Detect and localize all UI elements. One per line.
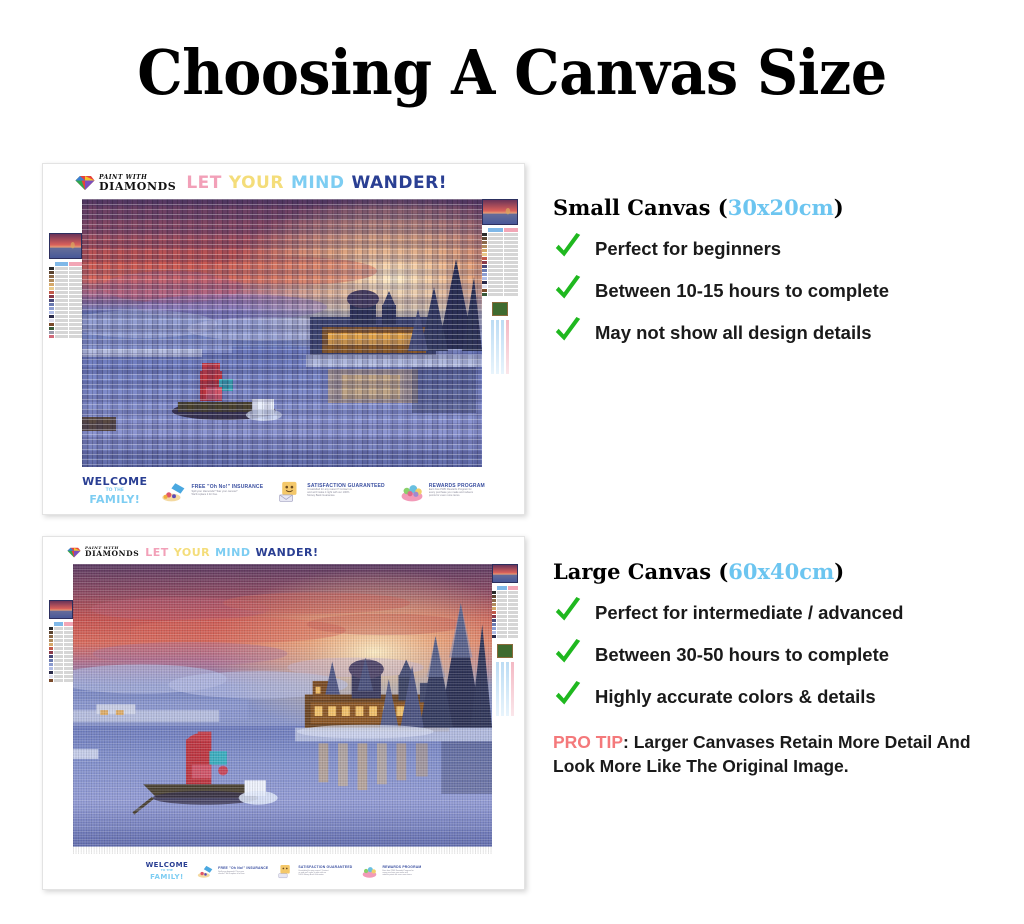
diamond-icon xyxy=(75,175,95,191)
small-canvas-preview-card: PAINT WITH DIAMONDS LET YOUR MIND WANDER… xyxy=(42,163,525,515)
list-item: May not show all design details xyxy=(553,317,1015,345)
legend-row xyxy=(49,679,73,682)
checkmark-icon xyxy=(553,597,583,625)
canvas-artwork-row xyxy=(49,564,518,854)
brand-logo: PAINT WITH DIAMONDS xyxy=(67,546,139,558)
legend-header-dmc xyxy=(497,586,507,590)
legend-row xyxy=(482,277,518,280)
legend-row xyxy=(482,253,518,256)
legend-header-qty xyxy=(64,622,73,626)
large-canvas-heading: Large Canvas (60x40cm) xyxy=(553,560,1015,583)
instruction-column xyxy=(491,320,494,374)
legend-row xyxy=(49,675,73,678)
legend-row xyxy=(482,241,518,244)
gift-basket-icon xyxy=(361,863,378,879)
legend-row xyxy=(492,595,518,598)
diamond-bead-grid xyxy=(73,564,492,854)
canvas-artwork-small xyxy=(82,199,482,467)
perk-subtitle: Spill your diamonds? Tear your canvas? W… xyxy=(218,871,250,875)
legend-row xyxy=(482,237,518,240)
tagline-word-3: MIND xyxy=(291,175,345,192)
vertical-instructions xyxy=(492,662,518,716)
legend-row xyxy=(482,281,518,284)
welcome-footer-bar: WELCOME TO THE FAMILY! FREE "Oh No!" INS… xyxy=(49,856,518,886)
bullet-label: Perfect for intermediate / advanced xyxy=(595,597,903,624)
legend-row xyxy=(49,271,82,274)
legend-row xyxy=(49,295,82,298)
left-legend-rail xyxy=(49,564,73,854)
instruction-column xyxy=(506,662,509,716)
dimension-value: 30x20cm xyxy=(728,195,834,220)
thumbnail-image xyxy=(483,200,517,224)
legend-row xyxy=(49,659,73,662)
color-legend-table xyxy=(482,228,518,296)
small-canvas-bullet-list: Perfect for beginners Between 10-15 hour… xyxy=(553,233,1015,345)
pro-tip-label: PRO TIP xyxy=(553,732,623,752)
legend-row xyxy=(49,287,82,290)
legend-row xyxy=(49,639,73,642)
legend-row xyxy=(482,285,518,288)
legend-row xyxy=(492,603,518,606)
checkmark-icon xyxy=(553,681,583,709)
legend-row xyxy=(49,311,82,314)
list-item: Between 10-15 hours to complete xyxy=(553,275,1015,303)
legend-row xyxy=(49,283,82,286)
legend-row xyxy=(49,635,73,638)
welcome-line-1: WELCOME xyxy=(82,476,147,489)
legend-row xyxy=(492,631,518,634)
instruction-column-highlight xyxy=(511,662,514,716)
legend-row xyxy=(49,655,73,658)
gift-basket-icon xyxy=(399,479,425,503)
welcome-message: WELCOME TO THE FAMILY! xyxy=(82,476,147,506)
tagline-word-2: YOUR xyxy=(174,547,210,558)
legend-row xyxy=(49,275,82,278)
legend-row xyxy=(49,667,73,670)
perk-rewards: REWARDS PROGRAM Earn free PWD Rewards Pr… xyxy=(361,863,421,879)
page-title: Choosing A Canvas Size xyxy=(41,38,983,108)
large-canvas-info: Large Canvas (60x40cm) Perfect for inter… xyxy=(553,560,1015,778)
vertical-instructions xyxy=(482,320,518,374)
instruction-column xyxy=(496,320,499,374)
checkmark-icon xyxy=(553,275,583,303)
kit-badge-icon xyxy=(497,644,513,658)
instruction-column xyxy=(501,662,504,716)
brand-logo-bottom: DIAMONDS xyxy=(85,550,139,558)
artwork-thumbnail xyxy=(482,199,518,225)
tagline-word-4: WANDER! xyxy=(256,547,319,558)
heading-prefix: Large Canvas ( xyxy=(553,559,728,584)
artwork-thumbnail xyxy=(492,564,518,583)
list-item: Between 30-50 hours to complete xyxy=(553,639,1015,667)
legend-row xyxy=(492,599,518,602)
perk-satisfaction: SATISFACTION GUARANTEED Unsatisfied for … xyxy=(277,479,385,503)
brand-logo-bottom: DIAMONDS xyxy=(99,181,176,192)
legend-row xyxy=(482,289,518,292)
spilled-paint-icon xyxy=(161,479,187,503)
legend-row xyxy=(492,615,518,618)
color-legend-table xyxy=(492,586,518,638)
pro-tip: PRO TIP: Larger Canvases Retain More Det… xyxy=(553,731,1015,777)
artwork-thumbnail xyxy=(49,233,82,259)
artwork-thumbnail xyxy=(49,600,73,619)
list-item: Perfect for beginners xyxy=(553,233,1015,261)
canvas-header-large: PAINT WITH DIAMONDS LET YOUR MIND WANDER… xyxy=(49,543,518,561)
legend-row xyxy=(482,261,518,264)
diamond-bead-grid xyxy=(82,199,482,467)
tagline-word-3: MIND xyxy=(215,547,250,558)
welcome-line-3: FAMILY! xyxy=(146,873,189,881)
perk-subtitle: Unsatisfied for any reason? Contact us a… xyxy=(298,870,330,876)
perk-rewards: REWARDS PROGRAM Earn free PWD Rewards Pr… xyxy=(399,479,485,503)
canvas-tagline: LET YOUR MIND WANDER! xyxy=(145,547,318,558)
smiley-package-icon xyxy=(277,479,303,503)
tagline-word-2: YOUR xyxy=(229,175,284,192)
checkmark-icon xyxy=(553,317,583,345)
list-item: Highly accurate colors & details xyxy=(553,681,1015,709)
tagline-word-4: WANDER! xyxy=(352,175,447,192)
legend-row xyxy=(49,299,82,302)
thumbnail-image xyxy=(50,234,81,258)
perk-subtitle: Spill your diamonds? Tear your canvas? W… xyxy=(191,491,237,497)
legend-row xyxy=(49,315,82,318)
canvas-tagline: LET YOUR MIND WANDER! xyxy=(186,175,447,192)
diamond-icon xyxy=(67,547,81,558)
brand-logo: PAINT WITH DIAMONDS xyxy=(75,175,176,192)
legend-row xyxy=(482,233,518,236)
left-legend-rail xyxy=(49,199,82,467)
right-legend-rail xyxy=(482,199,518,467)
small-canvas-info: Small Canvas (30x20cm) Perfect for begin… xyxy=(553,196,1015,359)
legend-row xyxy=(49,331,82,334)
legend-row xyxy=(49,323,82,326)
legend-row xyxy=(482,269,518,272)
perk-subtitle: Earn free PWD Rewards Program for every … xyxy=(382,870,414,876)
thumbnail-image xyxy=(493,565,517,582)
heading-suffix: ) xyxy=(834,559,844,584)
legend-row xyxy=(492,607,518,610)
canvas-header-small: PAINT WITH DIAMONDS LET YOUR MIND WANDER… xyxy=(49,170,518,196)
checkmark-icon xyxy=(553,639,583,667)
perk-insurance: FREE "Oh No!" INSURANCE Spill your diamo… xyxy=(197,863,268,879)
bullet-label: Between 10-15 hours to complete xyxy=(595,275,889,302)
legend-header-qty xyxy=(504,228,519,232)
legend-row xyxy=(49,671,73,674)
legend-row xyxy=(49,663,73,666)
legend-row xyxy=(482,245,518,248)
legend-row xyxy=(49,319,82,322)
bullet-label: Perfect for beginners xyxy=(595,233,781,260)
legend-row xyxy=(49,647,73,650)
perk-insurance: FREE "Oh No!" INSURANCE Spill your diamo… xyxy=(161,479,263,503)
legend-header-dmc xyxy=(54,622,63,626)
legend-row xyxy=(492,611,518,614)
bullet-label: Highly accurate colors & details xyxy=(595,681,876,708)
list-item: Perfect for intermediate / advanced xyxy=(553,597,1015,625)
legend-row xyxy=(49,631,73,634)
instruction-column-highlight xyxy=(506,320,509,374)
legend-row xyxy=(492,623,518,626)
canvas-artwork-large xyxy=(73,564,492,854)
tagline-word-1: LET xyxy=(186,175,222,192)
welcome-line-3: FAMILY! xyxy=(82,494,147,507)
right-legend-rail xyxy=(492,564,518,854)
bullet-label: Between 30-50 hours to complete xyxy=(595,639,889,666)
legend-header-dmc xyxy=(488,228,503,232)
checkmark-icon xyxy=(553,233,583,261)
legend-row xyxy=(482,265,518,268)
legend-header-qty xyxy=(69,262,82,266)
kit-badge-icon xyxy=(492,302,508,316)
legend-row xyxy=(49,327,82,330)
legend-row xyxy=(482,293,518,296)
heading-suffix: ) xyxy=(834,195,844,220)
thumbnail-image xyxy=(50,601,72,618)
instruction-column xyxy=(496,662,499,716)
color-legend-table xyxy=(49,262,82,338)
color-legend-table xyxy=(49,622,73,682)
small-canvas-heading: Small Canvas (30x20cm) xyxy=(553,196,1015,219)
tagline-word-1: LET xyxy=(145,547,169,558)
legend-row xyxy=(49,267,82,270)
legend-header-dmc xyxy=(55,262,68,266)
canvas-artwork-row xyxy=(49,199,518,467)
spilled-paint-icon xyxy=(197,863,214,879)
canvas-size-infographic: Choosing A Canvas Size PAINT WITH DIAMON… xyxy=(0,0,1024,924)
perk-subtitle: Unsatisfied for any reason? Contact us a… xyxy=(307,489,353,498)
large-canvas-preview-card: PAINT WITH DIAMONDS LET YOUR MIND WANDER… xyxy=(42,536,525,890)
legend-row xyxy=(492,627,518,630)
dimension-value: 60x40cm xyxy=(728,559,834,584)
smiley-package-icon xyxy=(277,863,294,879)
legend-row xyxy=(49,279,82,282)
legend-row xyxy=(49,627,73,630)
legend-row xyxy=(49,303,82,306)
legend-row xyxy=(49,651,73,654)
heading-prefix: Small Canvas ( xyxy=(553,195,728,220)
legend-row xyxy=(49,643,73,646)
welcome-message: WELCOME TO THE FAMILY! xyxy=(146,861,189,881)
perk-subtitle: Earn free PWD Rewards Program for every … xyxy=(429,489,475,498)
legend-row xyxy=(482,273,518,276)
legend-row xyxy=(492,591,518,594)
welcome-footer-bar: WELCOME TO THE FAMILY! FREE "Oh No!" INS… xyxy=(49,469,518,513)
legend-row xyxy=(49,335,82,338)
legend-row xyxy=(49,307,82,310)
legend-row xyxy=(492,635,518,638)
instruction-column xyxy=(501,320,504,374)
perk-satisfaction: SATISFACTION GUARANTEED Unsatisfied for … xyxy=(277,863,352,879)
legend-row xyxy=(49,291,82,294)
legend-row xyxy=(492,619,518,622)
legend-row xyxy=(482,257,518,260)
legend-row xyxy=(482,249,518,252)
large-canvas-bullet-list: Perfect for intermediate / advanced Betw… xyxy=(553,597,1015,709)
bullet-label: May not show all design details xyxy=(595,317,872,344)
legend-header-qty xyxy=(508,586,518,590)
